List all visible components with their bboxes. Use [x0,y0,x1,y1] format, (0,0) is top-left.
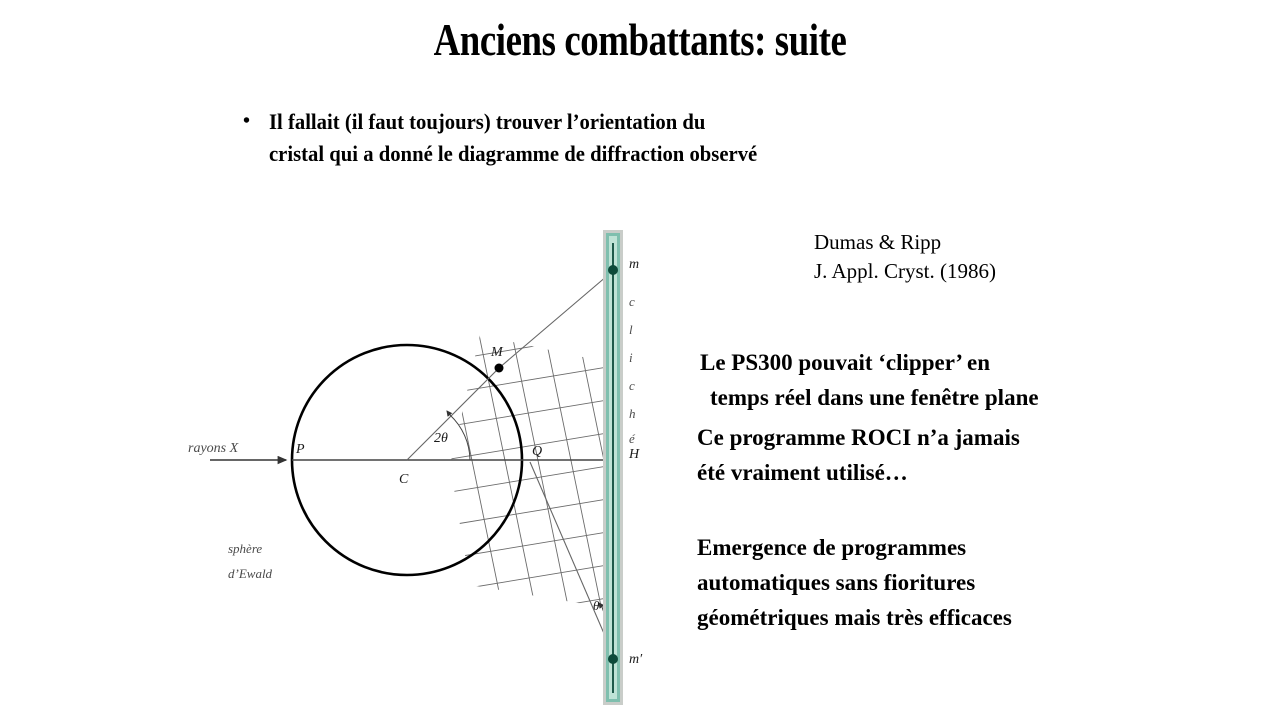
ewald-sphere-figure: rayons X P C Q M H 2θ θ m m′ sphère d’Ew… [150,215,670,705]
bullet-marker-icon: • [243,106,269,136]
bullet-list: • Il fallait (il faut toujours) trouver … [243,106,963,170]
slide-canvas: Anciens combattants: suite • Il fallait … [0,0,1280,720]
label-q: Q [532,444,542,459]
label-spot-m-prime: m′ [629,652,643,667]
note-roci: Ce programme ROCI n’a jamais été vraimen… [697,420,1020,490]
two-theta-arrow [447,411,450,415]
diffracted-ray-lower [530,462,615,659]
diffracted-ray-upper [499,270,614,368]
reciprocal-lattice-grid [409,315,670,662]
film-letter-3: c [629,378,635,393]
film-letter-4: h [629,406,636,421]
note-ps300-line1: Le PS300 pouvait ‘clipper’ en [700,350,990,375]
label-rayons-x: rayons X [188,441,239,456]
page-title: Anciens combattants: suite [128,14,1152,66]
note-ps300-line2: temps réel dans une fenêtre plane [700,380,1039,415]
film-letter-1: l [629,322,633,337]
note-emergence: Emergence de programmes automatiques san… [697,530,1012,635]
label-c: C [399,472,409,487]
diffraction-spot-m [608,265,618,275]
point-m-marker [495,364,504,373]
radius-line-cm [407,368,499,460]
citation-text: Dumas & Ripp J. Appl. Cryst. (1986) [814,228,996,286]
film-vertical-word: c l i c h é [629,294,636,446]
label-spot-m: m [629,257,639,272]
label-h: H [628,447,640,462]
label-p: P [295,442,305,457]
film-strip [603,230,623,705]
label-theta: θ [593,598,600,613]
label-sphere-line2: d’Ewald [228,566,273,581]
label-two-theta: 2θ [434,431,448,446]
film-letter-2: i [629,350,633,365]
diffraction-spot-m-prime [608,654,618,664]
film-letter-5: é [629,431,636,446]
film-letter-0: c [629,294,635,309]
bullet-text: Il fallait (il faut toujours) trouver l’… [269,106,757,170]
label-sphere-line1: sphère [228,541,262,556]
label-m: M [490,345,504,360]
list-item: • Il fallait (il faut toujours) trouver … [243,106,963,170]
